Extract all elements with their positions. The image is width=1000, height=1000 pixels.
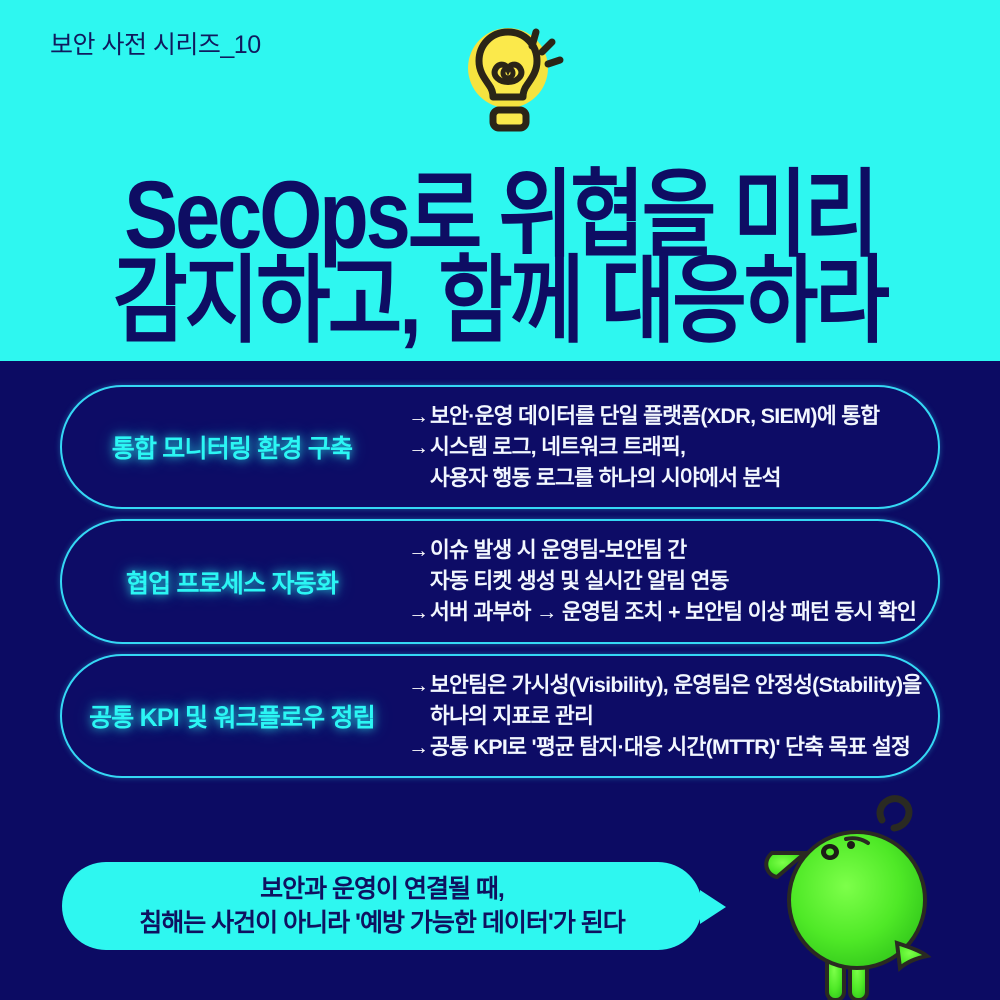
bullet-text: 보안팀은 가시성(Visibility), 운영팀은 안정성(Stability… — [430, 673, 922, 697]
card-label: 협업 프로세스 자동화 — [62, 564, 408, 600]
bullet-text: 사용자 행동 로그를 하나의 시야에서 분석 — [430, 466, 781, 490]
bullet-line: →보안·운영 데이터를 단일 플랫폼(XDR, SIEM)에 통합 — [408, 401, 938, 432]
conclusion-speech-bubble: 보안과 운영이 연결될 때, 침해는 사건이 아니라 '예방 가능한 데이터'가… — [62, 862, 702, 950]
bullet-text: 공통 KPI로 '평균 탐지·대응 시간(MTTR)' 단축 목표 설정 — [430, 735, 910, 759]
content-card[interactable]: 공통 KPI 및 워크플로우 정립 →보안팀은 가시성(Visibility),… — [60, 654, 940, 778]
card-label: 통합 모니터링 환경 구축 — [62, 429, 408, 465]
bubble-line1: 보안과 운영이 연결될 때, — [139, 872, 625, 906]
bullet-line: 자동 티켓 생성 및 실시간 알림 연동 — [408, 566, 938, 597]
bullet-text: 이슈 발생 시 운영팀-보안팀 간 — [430, 538, 687, 562]
bubble-text: 보안과 운영이 연결될 때, 침해는 사건이 아니라 '예방 가능한 데이터'가… — [139, 872, 625, 940]
arrow-icon: → — [408, 597, 430, 628]
bullet-line: →서버 과부하 → 운영팀 조치 + 보안팀 이상 패턴 동시 확인 — [408, 597, 938, 628]
arrow-icon: → — [408, 732, 430, 763]
bullet-text: 하나의 지표로 관리 — [430, 704, 593, 728]
arrow-icon: → — [408, 401, 430, 432]
arrow-icon: → — [408, 432, 430, 463]
bullet-line: 하나의 지표로 관리 — [408, 701, 938, 732]
speech-bubble-tail-icon — [700, 890, 726, 924]
content-card-list: 통합 모니터링 환경 구축 →보안·운영 데이터를 단일 플랫폼(XDR, SI… — [60, 385, 940, 788]
bullet-text: 시스템 로그, 네트워크 트래픽, — [430, 435, 685, 459]
bullet-line: →시스템 로그, 네트워크 트래픽, — [408, 432, 938, 463]
bullet-text: 보안·운영 데이터를 단일 플랫폼(XDR, SIEM)에 통합 — [430, 404, 879, 428]
bubble-line2: 침해는 사건이 아니라 '예방 가능한 데이터'가 된다 — [139, 906, 625, 940]
card-label: 공통 KPI 및 워크플로우 정립 — [62, 698, 408, 734]
card-body: →이슈 발생 시 운영팀-보안팀 간 자동 티켓 생성 및 실시간 알림 연동 … — [408, 535, 938, 628]
header-band: 보안 사전 시리즈_10 SecOps로 위협을 미리 감지하고, 함께 대응하… — [0, 0, 1000, 361]
series-kicker: 보안 사전 시리즈_10 — [50, 25, 261, 61]
bullet-line: 사용자 행동 로그를 하나의 시야에서 분석 — [408, 463, 938, 494]
bullet-text: 자동 티켓 생성 및 실시간 알림 연동 — [430, 569, 729, 593]
lightbulb-icon — [452, 16, 570, 138]
arrow-icon: → — [408, 535, 430, 566]
bullet-line: →보안팀은 가시성(Visibility), 운영팀은 안정성(Stabilit… — [408, 670, 938, 701]
infographic-root: 보안 사전 시리즈_10 SecOps로 위협을 미리 감지하고, 함께 대응하… — [0, 0, 1000, 1000]
bullet-line: →공통 KPI로 '평균 탐지·대응 시간(MTTR)' 단축 목표 설정 — [408, 732, 938, 763]
card-body: →보안팀은 가시성(Visibility), 운영팀은 안정성(Stabilit… — [408, 670, 938, 763]
card-body: →보안·운영 데이터를 단일 플랫폼(XDR, SIEM)에 통합 →시스템 로… — [408, 401, 938, 494]
page-title-line2: 감지하고, 함께 대응하라 — [0, 252, 1000, 352]
content-card[interactable]: 협업 프로세스 자동화 →이슈 발생 시 운영팀-보안팀 간 자동 티켓 생성 … — [60, 519, 940, 644]
bullet-line: →이슈 발생 시 운영팀-보안팀 간 — [408, 535, 938, 566]
content-card[interactable]: 통합 모니터링 환경 구축 →보안·운영 데이터를 단일 플랫폼(XDR, SI… — [60, 385, 940, 509]
bullet-text: 서버 과부하 → 운영팀 조치 + 보안팀 이상 패턴 동시 확인 — [430, 600, 916, 624]
green-character-mascot — [742, 795, 1000, 1000]
arrow-icon: → — [408, 670, 430, 701]
